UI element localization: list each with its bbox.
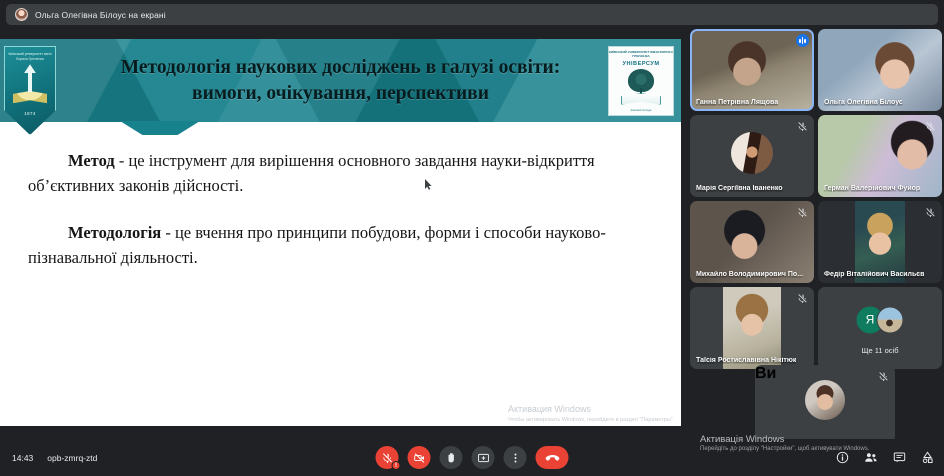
watermark-title: Активація Windows xyxy=(700,434,869,445)
more-vertical-icon xyxy=(509,452,521,464)
end-call-button[interactable] xyxy=(536,446,569,469)
crest-top-text: Київський університет імені Бориса Грінч… xyxy=(7,52,53,61)
participant-tile[interactable]: Ганна Петрівна Лящова xyxy=(690,29,814,111)
microphone-off-button[interactable]: ! xyxy=(376,446,399,469)
people-icon[interactable] xyxy=(864,451,878,464)
participant-name: Ольга Олегівна Білоус xyxy=(824,99,903,106)
windows-activation-watermark-slide: Активация Windows Чтобы активировать Win… xyxy=(508,404,674,424)
more-participants-avatars: Я xyxy=(857,306,904,333)
activities-icon[interactable] xyxy=(921,451,934,464)
meeting-meta: 14:43 opb-zmrq-ztd xyxy=(12,453,97,463)
participant-name: Михайло Володимирович По... xyxy=(696,271,803,278)
participant-name: Герман Валерійович Фуйор xyxy=(824,185,920,192)
participant-tile[interactable]: Таїсія Ростиславівна Нікітюк xyxy=(690,287,814,369)
presenter-avatar xyxy=(15,8,28,21)
slide-title: Методологія наукових досліджень в галузі… xyxy=(106,55,576,107)
participant-name: Марія Сергіївна Іваненко xyxy=(696,185,783,192)
mouse-cursor-icon xyxy=(425,179,432,190)
speaking-indicator-icon xyxy=(796,34,809,47)
participant-name: Ганна Петрівна Лящова xyxy=(696,99,778,106)
mic-off-icon xyxy=(797,207,808,218)
watermark-title: Активация Windows xyxy=(508,404,674,414)
slide-paragraph-2: Методологія - це вчення про принципи поб… xyxy=(28,220,653,270)
universum-top-text: КИЇВСЬКИЙ УНІВЕРСИТЕТ ІМЕНІ БОРИСА ГРІНЧ… xyxy=(609,50,673,59)
chat-icon[interactable] xyxy=(893,451,906,464)
university-crest-icon: Київський університет імені Бориса Грінч… xyxy=(4,46,56,135)
call-controls: ! xyxy=(376,446,569,469)
slide-body: Метод - це інструмент для вирішення осно… xyxy=(0,122,681,270)
clock: 14:43 xyxy=(12,453,33,463)
participant-tile[interactable]: Герман Валерійович Фуйор xyxy=(818,115,942,197)
more-options-button[interactable] xyxy=(504,446,527,469)
avatar xyxy=(731,132,773,174)
presenter-bar: Ольга Олегівна Білоус на екрані xyxy=(6,4,938,25)
camera-off-icon xyxy=(413,452,425,464)
more-participants-tile[interactable]: Я Ще 11 осіб xyxy=(818,287,942,369)
meeting-window: Ольга Олегівна Білоус на екрані Київськи… xyxy=(0,0,944,476)
participant-tile[interactable]: Марія Сергіївна Іваненко xyxy=(690,115,814,197)
mic-off-icon xyxy=(797,293,808,304)
hand-icon xyxy=(445,452,457,464)
more-participants-label: Ще 11 осіб xyxy=(818,346,942,355)
participant-name: Таїсія Ростиславівна Нікітюк xyxy=(696,357,796,364)
universum-tree-icon xyxy=(619,68,663,108)
watermark-subtitle: Чтобы активировать Windows, перейдите в … xyxy=(508,416,674,424)
slide-paragraph-1: Метод - це інструмент для вирішення осно… xyxy=(28,148,653,198)
mic-off-icon xyxy=(381,452,393,464)
raise-hand-button[interactable] xyxy=(440,446,463,469)
mic-off-icon xyxy=(878,371,889,382)
term-methodology: Методологія xyxy=(68,223,161,242)
toolbar-right-icons xyxy=(836,451,934,464)
presenter-label: Ольга Олегівна Білоус на екрані xyxy=(35,10,166,20)
mic-warning-badge: ! xyxy=(392,461,401,470)
term-method: Метод xyxy=(68,151,115,170)
crest-emblem xyxy=(11,64,49,110)
mic-off-icon xyxy=(797,121,808,132)
slide: Київський університет імені Бориса Грінч… xyxy=(0,39,681,426)
meeting-code[interactable]: opb-zmrq-ztd xyxy=(47,453,97,463)
universum-name: УНІВЕРСУМ xyxy=(622,61,659,67)
avatar xyxy=(805,380,845,420)
camera-off-button[interactable] xyxy=(408,446,431,469)
crest-year: 1874 xyxy=(24,111,36,116)
slide-header-band: Київський університет імені Бориса Грінч… xyxy=(0,39,681,122)
watermark-subtitle: Перейдіть до розділу "Настройки", щоб ак… xyxy=(700,446,869,452)
present-screen-button[interactable] xyxy=(472,446,495,469)
avatar xyxy=(877,306,904,333)
universum-logo: КИЇВСЬКИЙ УНІВЕРСИТЕТ ІМЕНІ БОРИСА ГРІНЧ… xyxy=(608,46,674,116)
mic-off-icon xyxy=(925,207,936,218)
present-screen-icon xyxy=(477,452,489,464)
universum-footer: фаховий коледж xyxy=(631,109,652,112)
self-view-tile[interactable]: Ви xyxy=(755,365,895,443)
mic-off-icon xyxy=(925,121,936,132)
participant-tile[interactable]: Михайло Володимирович По... xyxy=(690,201,814,283)
meeting-details-icon[interactable] xyxy=(836,451,849,464)
end-call-icon xyxy=(544,452,560,464)
windows-activation-watermark-bottom: Активація Windows Перейдіть до розділу "… xyxy=(700,434,869,452)
participant-name: Федір Віталійович Васильєв xyxy=(824,271,924,278)
presentation-stage[interactable]: Київський університет імені Бориса Грінч… xyxy=(0,29,687,439)
participant-tile[interactable]: Ольга Олегівна Білоус xyxy=(818,29,942,111)
participant-tile[interactable]: Федір Віталійович Васильєв xyxy=(818,201,942,283)
